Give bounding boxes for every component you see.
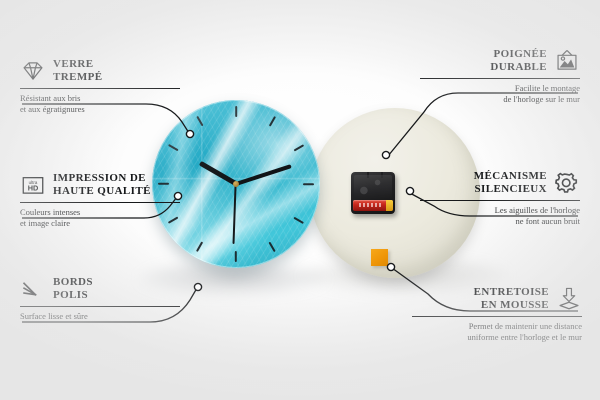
feature-header: MÉCANISME SILENCIEUX (420, 170, 580, 196)
feature-title: MÉCANISME SILENCIEUX (474, 170, 547, 196)
feature-desc-line1: Facilite le montage (420, 83, 580, 94)
gear-icon (554, 170, 580, 196)
foam-spacer-icon (556, 286, 582, 312)
feature-mecanisme-silencieux: MÉCANISME SILENCIEUX Les aiguilles de l'… (420, 170, 580, 226)
feature-header: ultra HD IMPRESSION DE HAUTE QUALITÉ (20, 172, 180, 198)
feature-desc-line1: Permet de maintenir une distance (412, 321, 582, 332)
feature-header: BORDS POLIS (20, 276, 180, 302)
connector-dot-bords-polis (194, 283, 201, 290)
feature-title: VERRE TREMPÉ (53, 58, 102, 84)
diamond-icon (20, 58, 46, 84)
polished-edges-icon (20, 276, 46, 302)
feature-desc-line2: uniforme entre l'horloge et le mur (412, 332, 582, 343)
feature-header: VERRE TREMPÉ (20, 58, 180, 84)
foam-spacer (371, 249, 388, 266)
feature-desc-line1: Résistant aux bris (20, 93, 180, 104)
feature-impression-haute-qualite: ultra HD IMPRESSION DE HAUTE QUALITÉ Cou… (20, 172, 180, 228)
feature-divider (20, 202, 180, 203)
infographic-canvas: VERRE TREMPÉ Résistant aux bris et aux é… (0, 0, 600, 400)
picture-hanger-icon (554, 48, 580, 74)
feature-desc-line1: Surface lisse et sûre (20, 311, 180, 322)
feature-verre-trempe: VERRE TREMPÉ Résistant aux bris et aux é… (20, 58, 180, 114)
feature-entretoise-en-mousse: ENTRETOISE EN MOUSSE Permet de maintenir… (412, 286, 582, 342)
feature-title: POIGNÉE DURABLE (490, 48, 547, 74)
feature-title: IMPRESSION DE HAUTE QUALITÉ (53, 172, 151, 198)
feature-header: POIGNÉE DURABLE (420, 48, 580, 74)
svg-text:HD: HD (28, 184, 39, 193)
feature-divider (20, 306, 180, 307)
feature-divider (420, 78, 580, 79)
feature-bords-polis: BORDS POLIS Surface lisse et sûre (20, 276, 180, 322)
feature-desc-line1: Couleurs intenses (20, 207, 180, 218)
feature-desc-line1: Les aiguilles de l'horloge (420, 205, 580, 216)
feature-desc-line2: et image claire (20, 218, 180, 229)
battery (353, 200, 393, 211)
feature-title: ENTRETOISE EN MOUSSE (474, 286, 549, 312)
ultra-hd-icon: ultra HD (20, 172, 46, 198)
feature-poignee-durable: POIGNÉE DURABLE Facilite le montage de l… (420, 48, 580, 104)
feature-title: BORDS POLIS (53, 276, 93, 302)
feature-divider (412, 316, 582, 317)
feature-desc-line2: ne font aucun bruit (420, 216, 580, 227)
battery-terminal (386, 200, 393, 211)
mechanism-surface-detail (354, 175, 392, 200)
feature-desc-line2: de l'horloge sur le mur (420, 94, 580, 105)
battery-label (359, 203, 381, 207)
feature-header: ENTRETOISE EN MOUSSE (412, 286, 582, 312)
feature-desc-line2: et aux égratignures (20, 104, 180, 115)
feature-divider (20, 88, 180, 89)
feature-divider (420, 200, 580, 201)
